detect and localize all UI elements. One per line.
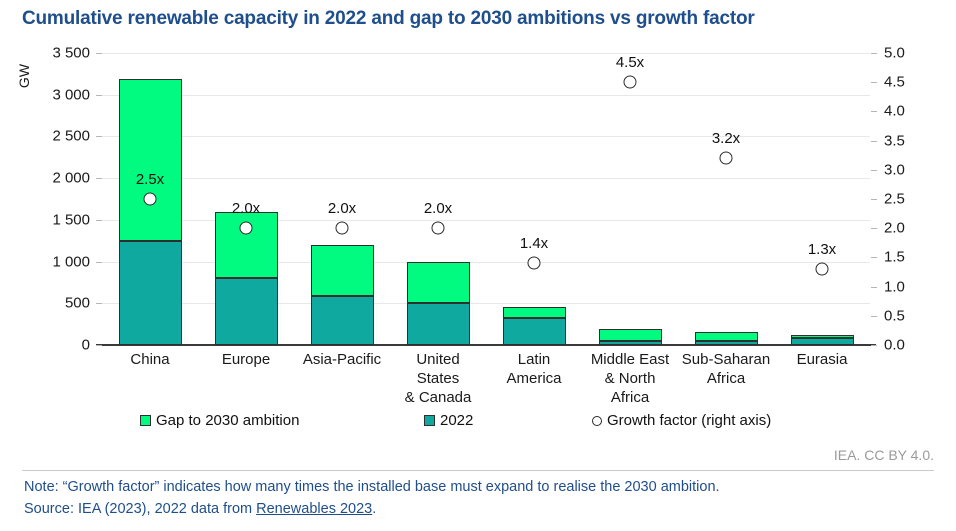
axis-baseline xyxy=(96,344,876,346)
bar-segment-2022[interactable] xyxy=(503,318,566,345)
right-axis-tick xyxy=(871,82,877,83)
right-axis-tick-label: 3.5 xyxy=(884,132,905,149)
bar-segment-gap-to-2030[interactable] xyxy=(311,245,374,296)
category-label-line: America xyxy=(486,369,582,388)
x-axis-category-label: UnitedStates& Canada xyxy=(390,350,486,407)
category-label-line: United xyxy=(390,350,486,369)
footer-divider xyxy=(22,470,934,471)
growth-factor-marker[interactable] xyxy=(624,76,637,89)
right-axis-tick xyxy=(871,316,877,317)
left-axis-tick-label: 500 xyxy=(65,295,90,312)
legend-item[interactable]: Growth factor (right axis) xyxy=(592,412,771,429)
category-label-line: Africa xyxy=(582,388,678,407)
growth-factor-label: 1.3x xyxy=(808,241,836,258)
legend-label: 2022 xyxy=(440,412,473,429)
growth-factor-marker[interactable] xyxy=(432,222,445,235)
bar-segment-gap-to-2030[interactable] xyxy=(119,79,182,241)
x-axis-category-label: LatinAmerica xyxy=(486,350,582,388)
right-axis-tick-label: 1.5 xyxy=(884,249,905,266)
left-axis-tick xyxy=(96,345,102,346)
right-axis-tick-label: 2.0 xyxy=(884,220,905,237)
category-label-line: China xyxy=(102,350,198,369)
right-axis-tick-label: 0.5 xyxy=(884,307,905,324)
x-axis-category-label: Eurasia xyxy=(774,350,870,369)
legend: Gap to 2030 ambition2022Growth factor (r… xyxy=(0,412,956,434)
right-axis-tick-label: 2.5 xyxy=(884,191,905,208)
right-axis-tick xyxy=(871,53,877,54)
page-title: Cumulative renewable capacity in 2022 an… xyxy=(22,8,942,30)
bar-segment-2022[interactable] xyxy=(599,341,662,345)
bar-segment-gap-to-2030[interactable] xyxy=(503,307,566,318)
bar-group[interactable] xyxy=(791,53,854,345)
category-label-line: Sub-Saharan xyxy=(678,350,774,369)
growth-factor-marker[interactable] xyxy=(336,222,349,235)
left-axis-tick-label: 1 000 xyxy=(52,253,90,270)
right-axis-tick xyxy=(871,287,877,288)
note-text: Note: “Growth factor” indicates how many… xyxy=(24,479,720,495)
source-prefix: Source: IEA (2023), 2022 data from xyxy=(24,501,256,517)
right-axis-tick xyxy=(871,170,877,171)
growth-factor-label: 2.0x xyxy=(232,200,260,217)
left-axis-tick-label: 2 500 xyxy=(52,128,90,145)
category-label-line: Europe xyxy=(198,350,294,369)
right-axis-tick xyxy=(871,199,877,200)
left-axis-unit-label: GW xyxy=(16,46,32,106)
credit-text: IEA. CC BY 4.0. xyxy=(834,447,934,463)
left-axis-tick-label: 3 500 xyxy=(52,45,90,62)
left-axis-tick-label: 1 500 xyxy=(52,211,90,228)
bar-group[interactable] xyxy=(503,53,566,345)
legend-swatch-icon xyxy=(424,415,435,426)
bar-segment-gap-to-2030[interactable] xyxy=(695,332,758,341)
right-axis-tick-label: 0.0 xyxy=(884,337,905,354)
bar-group[interactable] xyxy=(695,53,758,345)
x-axis-category-label: Europe xyxy=(198,350,294,369)
bar-segment-2022[interactable] xyxy=(119,241,182,345)
category-label-line: States xyxy=(390,369,486,388)
right-axis-tick-label: 3.0 xyxy=(884,161,905,178)
right-axis-tick-label: 5.0 xyxy=(884,45,905,62)
left-axis-tick xyxy=(96,303,102,304)
bar-group[interactable] xyxy=(599,53,662,345)
x-axis-category-label: Asia-Pacific xyxy=(294,350,390,369)
growth-factor-label: 1.4x xyxy=(520,235,548,252)
growth-factor-label: 2.0x xyxy=(328,200,356,217)
category-label-line: Latin xyxy=(486,350,582,369)
right-axis-tick-label: 4.0 xyxy=(884,103,905,120)
legend-item[interactable]: 2022 xyxy=(424,412,473,429)
right-axis-tick xyxy=(871,141,877,142)
left-axis-tick-label: 0 xyxy=(82,337,90,354)
bar-segment-gap-to-2030[interactable] xyxy=(599,329,662,342)
growth-factor-label: 4.5x xyxy=(616,54,644,71)
left-axis-tick xyxy=(96,53,102,54)
legend-label: Gap to 2030 ambition xyxy=(156,412,299,429)
left-axis-tick xyxy=(96,95,102,96)
bar-segment-gap-to-2030[interactable] xyxy=(407,262,470,304)
growth-factor-label: 2.0x xyxy=(424,200,452,217)
legend-circle-icon xyxy=(592,416,602,426)
bar-segment-2022[interactable] xyxy=(215,278,278,345)
right-axis-tick-label: 4.5 xyxy=(884,74,905,91)
right-axis-tick xyxy=(871,345,877,346)
category-label-line: Africa xyxy=(678,369,774,388)
right-axis-tick xyxy=(871,257,877,258)
bar-segment-2022[interactable] xyxy=(791,338,854,346)
source-suffix: . xyxy=(372,501,376,517)
bar-segment-2022[interactable] xyxy=(407,303,470,345)
legend-item[interactable]: Gap to 2030 ambition xyxy=(140,412,299,429)
left-axis-tick xyxy=(96,178,102,179)
growth-factor-marker[interactable] xyxy=(144,193,157,206)
left-axis-tick-label: 2 000 xyxy=(52,170,90,187)
legend-swatch-icon xyxy=(140,415,151,426)
source-text: Source: IEA (2023), 2022 data from Renew… xyxy=(24,501,376,517)
category-label-line: Eurasia xyxy=(774,350,870,369)
x-axis-category-label: Sub-SaharanAfrica xyxy=(678,350,774,388)
category-label-line: Middle East xyxy=(582,350,678,369)
source-link[interactable]: Renewables 2023 xyxy=(256,501,372,517)
left-axis-tick-label: 3 000 xyxy=(52,86,90,103)
growth-factor-marker[interactable] xyxy=(720,152,733,165)
growth-factor-label: 3.2x xyxy=(712,130,740,147)
category-label-line: & North xyxy=(582,369,678,388)
x-axis-category-label: Middle East& NorthAfrica xyxy=(582,350,678,407)
growth-factor-label: 2.5x xyxy=(136,171,164,188)
left-axis-tick xyxy=(96,220,102,221)
right-axis-tick xyxy=(871,111,877,112)
bar-group[interactable] xyxy=(215,53,278,345)
x-axis-category-label: China xyxy=(102,350,198,369)
legend-label: Growth factor (right axis) xyxy=(607,412,771,429)
category-label-line: Asia-Pacific xyxy=(294,350,390,369)
right-axis-tick-label: 1.0 xyxy=(884,278,905,295)
right-axis-tick xyxy=(871,228,877,229)
bar-segment-2022[interactable] xyxy=(695,341,758,345)
growth-factor-marker[interactable] xyxy=(816,263,829,276)
bar-segment-2022[interactable] xyxy=(311,296,374,345)
left-axis-tick xyxy=(96,262,102,263)
growth-factor-marker[interactable] xyxy=(240,222,253,235)
category-label-line: & Canada xyxy=(390,388,486,407)
growth-factor-marker[interactable] xyxy=(528,257,541,270)
bar-group[interactable] xyxy=(407,53,470,345)
left-axis-tick xyxy=(96,136,102,137)
bar-group[interactable] xyxy=(311,53,374,345)
